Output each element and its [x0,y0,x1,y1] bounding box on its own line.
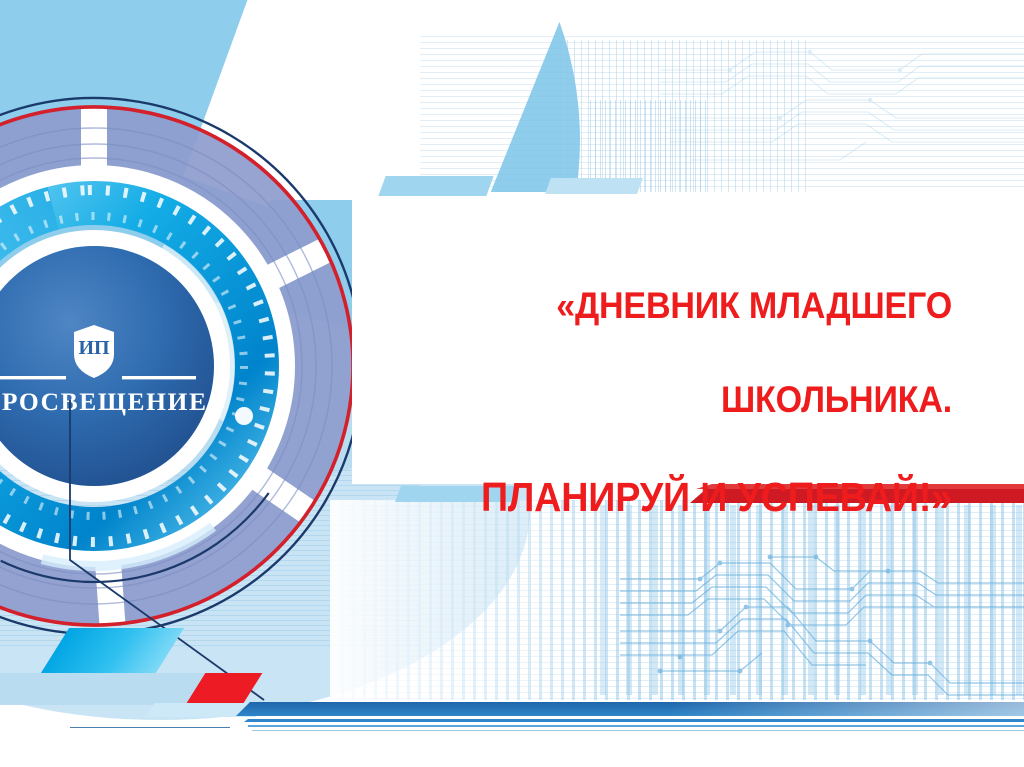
slide-title: «ДНЕВНИК МЛАДШЕГО ШКОЛЬНИКА. ПЛАНИРУЙ И … [418,236,952,570]
title-line-3: ПЛАНИРУЙ И УСПЕВАЙ!» [418,471,952,523]
title-line-2: ШКОЛЬНИКА. [418,377,952,424]
bottom-band-line-3 [252,730,1024,731]
title-line-1: «ДНЕВНИК МЛАДШЕГО [418,283,952,330]
presentation-slide: ИП ПРОСВЕЩЕНИЕ «ДНЕВНИК МЛАДШЕГО ШКОЛЬНИ… [0,0,1024,767]
logo-monogram: ИП [78,337,110,359]
bottom-rule-left [70,727,230,728]
circuit-trace-decoration-top [660,40,1024,190]
accent-slab-top-right [545,178,643,194]
bottom-band-fade [236,702,1024,716]
bottom-band-line-2 [248,725,1024,727]
bottom-band-line-1 [244,719,1024,722]
accent-slab-top-left [378,176,493,196]
